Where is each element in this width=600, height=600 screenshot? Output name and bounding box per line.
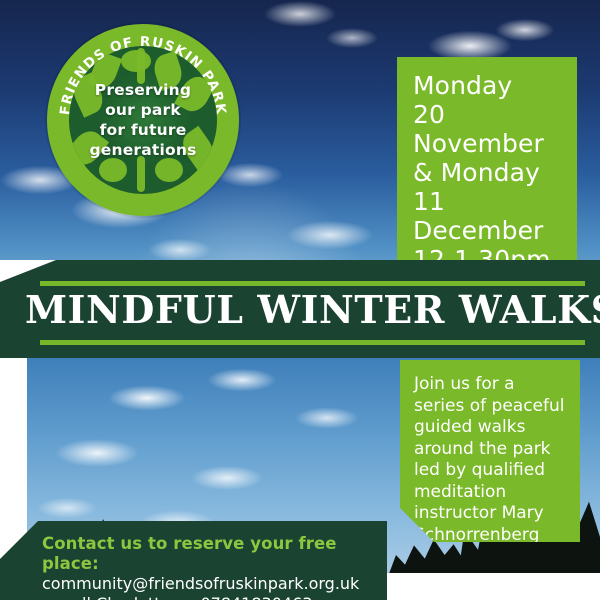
- logo-inner-disc: Preserving our park for future generatio…: [69, 46, 217, 194]
- date-time-panel: Monday 20 November & Monday 11 December …: [397, 57, 577, 262]
- contact-footer: Contact us to reserve your free place: c…: [0, 521, 387, 600]
- logo-center-line: Preserving: [69, 80, 217, 100]
- leaf-icon: [155, 158, 183, 182]
- leaf-icon: [121, 50, 151, 72]
- friends-of-ruskin-park-logo: FRIENDS OF RUSKIN PARK friendsofruskinpa…: [47, 24, 239, 216]
- logo-center-line: for future: [69, 120, 217, 140]
- description-line: meditation: [414, 482, 566, 504]
- description-line: around the park: [414, 439, 566, 461]
- fern-icon: [137, 156, 145, 192]
- date-line: Monday: [413, 71, 561, 100]
- description-line: led by qualified: [414, 460, 566, 482]
- logo-center-line: generations: [69, 140, 217, 160]
- fern-icon: [137, 48, 145, 84]
- description-panel: Join us for a series of peaceful guided …: [400, 360, 580, 542]
- contact-email[interactable]: community@friendsofruskinpark.org.uk: [42, 574, 387, 594]
- contact-heading: Contact us to reserve your free place:: [42, 534, 387, 574]
- date-main-text: Monday 20 November & Monday 11 December …: [413, 71, 561, 274]
- description-line: guided walks: [414, 417, 566, 439]
- description-text: Join us for a series of peaceful guided …: [414, 374, 566, 546]
- logo-center-line: our park: [69, 100, 217, 120]
- poster-root: FRIENDS OF RUSKIN PARK friendsofruskinpa…: [0, 0, 600, 600]
- description-line: series of peaceful: [414, 396, 566, 418]
- date-line: 11 December: [413, 187, 561, 245]
- leaf-icon: [99, 158, 127, 182]
- date-line: 20 November: [413, 100, 561, 158]
- description-line: instructor Mary: [414, 503, 566, 525]
- description-line: Join us for a: [414, 374, 566, 396]
- page-title: MINDFUL WINTER WALKS: [25, 286, 585, 334]
- logo-center-text: Preserving our park for future generatio…: [69, 80, 217, 160]
- contact-phone: or call Charlotte on 07841830463: [42, 594, 387, 600]
- date-line: & Monday: [413, 158, 561, 187]
- banner-rule-bottom: [40, 340, 585, 345]
